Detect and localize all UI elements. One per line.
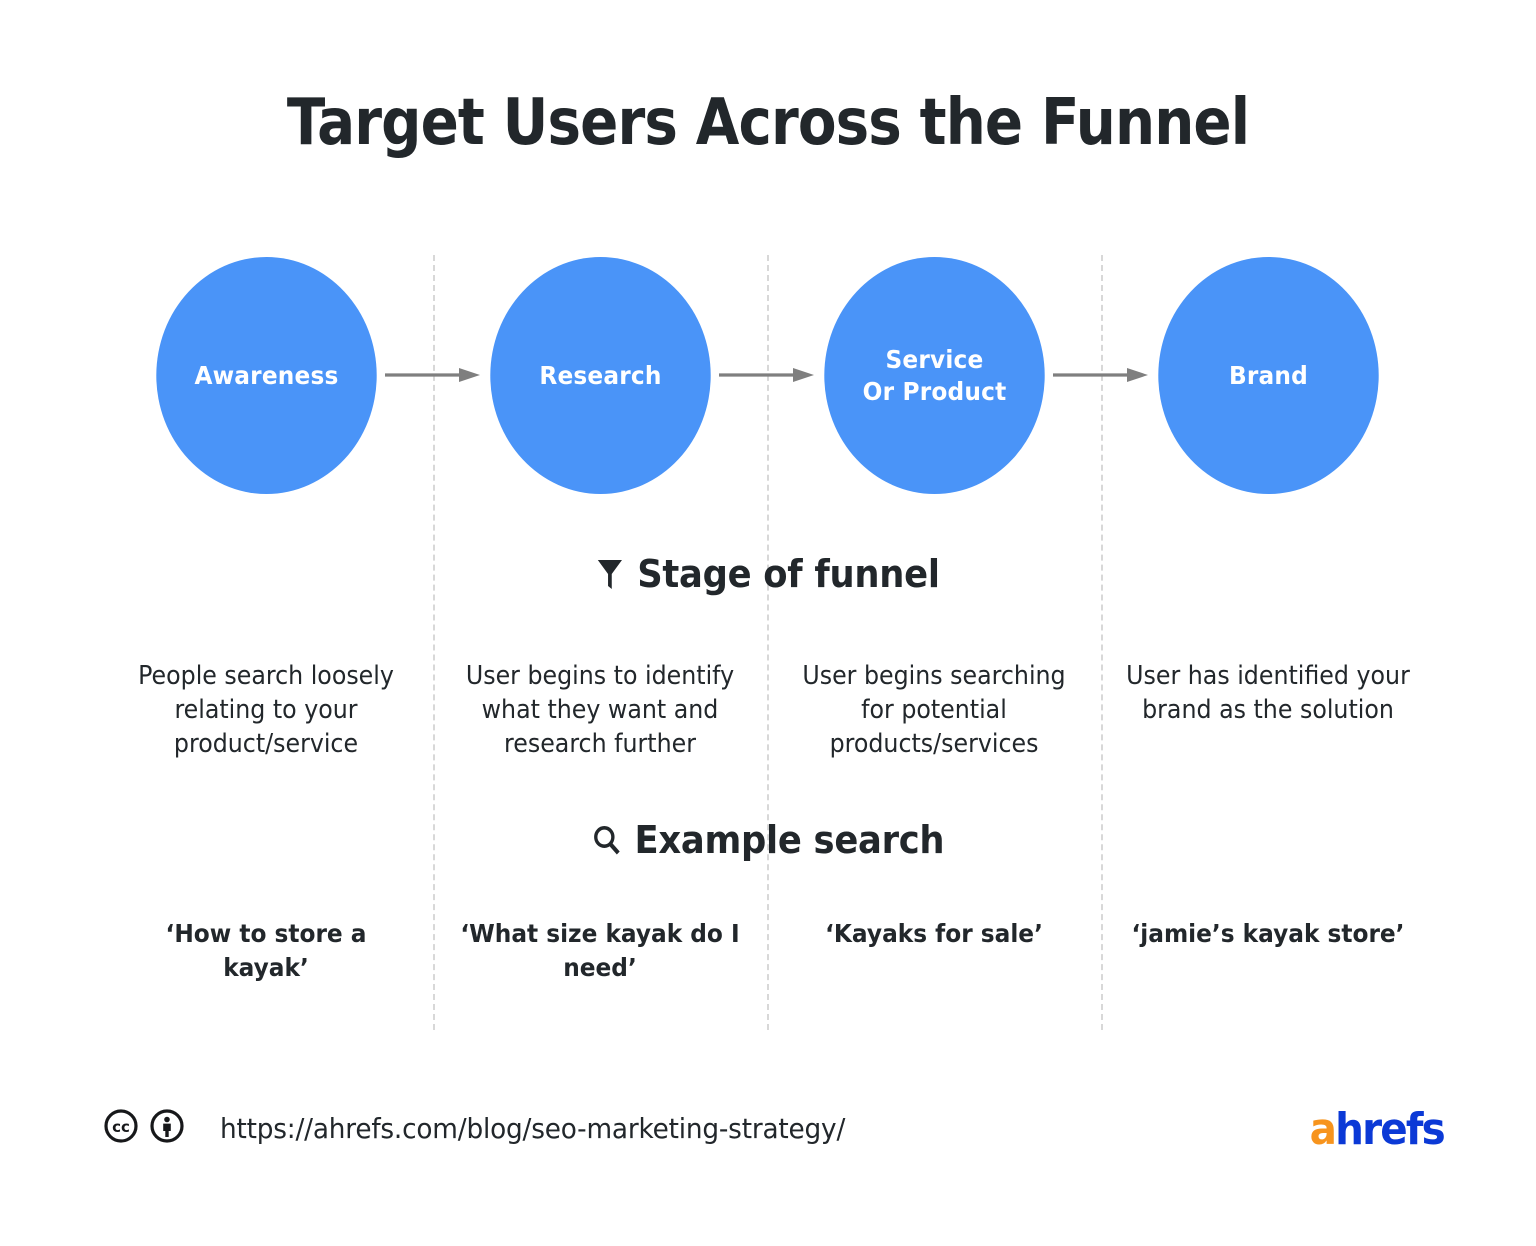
- stage-arrow-3: [1053, 367, 1150, 383]
- stage-circle-research: Research: [490, 257, 710, 494]
- example-search-awareness: ‘How to store a kayak’: [111, 917, 422, 985]
- source-url: https://ahrefs.com/blog/seo-marketing-st…: [220, 1112, 845, 1145]
- stage-description-service-or-product: User begins searching for potential prod…: [779, 660, 1090, 762]
- stage-label: Research: [539, 360, 661, 392]
- stage-description-research: User begins to identify what they want a…: [445, 660, 756, 762]
- page-title: Target Users Across the Funnel: [92, 86, 1444, 160]
- stage-circle-awareness: Awareness: [156, 257, 376, 494]
- search-icon: [592, 823, 622, 857]
- stage-label-line-1: Service: [863, 344, 1007, 376]
- stage-label-line-2: Or Product: [863, 376, 1007, 408]
- section-header-label: Stage of funnel: [637, 552, 939, 596]
- svg-text:cc: cc: [112, 1118, 130, 1136]
- stage-arrow-1: [385, 367, 482, 383]
- ahrefs-logo: ahrefs: [1310, 1104, 1444, 1155]
- stage-circle-brand: Brand: [1158, 257, 1378, 494]
- footer-attribution: cc https://ahrefs.com/blog/seo-marketing…: [104, 1100, 885, 1156]
- section-header-label: Example search: [635, 818, 945, 862]
- creative-commons-icon: cc: [104, 1109, 138, 1148]
- stage-label: Awareness: [194, 360, 338, 392]
- example-search-brand: ‘jamie’s kayak store’: [1113, 917, 1424, 985]
- attribution-by-icon: [150, 1109, 184, 1148]
- stage-circle-service-or-product: Service Or Product: [824, 257, 1044, 494]
- example-search-queries: ‘How to store a kayak’ ‘What size kayak …: [0, 917, 1536, 985]
- stage-arrow-2: [719, 367, 816, 383]
- funnel-icon: [596, 557, 624, 591]
- section-header-stage-of-funnel: Stage of funnel: [54, 552, 1482, 596]
- logo-text-hrefs: hrefs: [1335, 1104, 1444, 1155]
- footer: cc https://ahrefs.com/blog/seo-marketing…: [0, 1100, 1536, 1160]
- stage-description-awareness: People search loosely relating to your p…: [111, 660, 422, 762]
- example-search-service-or-product: ‘Kayaks for sale’: [779, 917, 1090, 985]
- stage-label: Brand: [1229, 360, 1308, 392]
- logo-letter-a: a: [1310, 1104, 1335, 1155]
- example-search-research: ‘What size kayak do I need’: [445, 917, 756, 985]
- stage-descriptions: People search loosely relating to your p…: [0, 660, 1536, 762]
- stage-description-brand: User has identified your brand as the so…: [1113, 660, 1424, 762]
- section-header-example-search: Example search: [54, 818, 1482, 862]
